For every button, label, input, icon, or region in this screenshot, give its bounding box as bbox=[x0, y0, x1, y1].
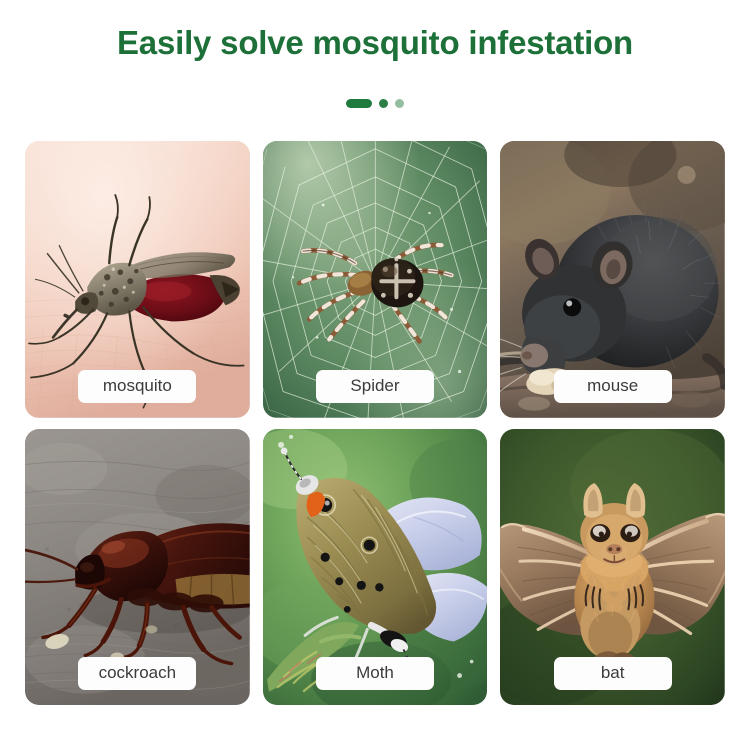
pest-card-bat[interactable]: bat bbox=[500, 429, 725, 706]
card-label-mosquito: mosquito bbox=[78, 370, 196, 403]
card-label-bat: bat bbox=[554, 657, 672, 690]
carousel-pagination[interactable] bbox=[0, 99, 750, 108]
page-title: Easily solve mosquito infestation bbox=[0, 22, 750, 63]
pager-dot-1[interactable] bbox=[346, 99, 372, 108]
pest-card-spider[interactable]: Spider bbox=[263, 141, 488, 418]
pager-dot-2[interactable] bbox=[379, 99, 388, 108]
pest-card-cockroach[interactable]: cockroach bbox=[25, 429, 250, 706]
card-label-cockroach: cockroach bbox=[78, 657, 196, 690]
pest-gallery-page: Easily solve mosquito infestation bbox=[0, 0, 750, 750]
pest-card-mosquito[interactable]: mosquito bbox=[25, 141, 250, 418]
pest-card-moth[interactable]: Moth bbox=[263, 429, 488, 706]
card-label-spider: Spider bbox=[316, 370, 434, 403]
pest-card-grid: mosquito bbox=[25, 141, 725, 705]
pest-card-mouse[interactable]: mouse bbox=[500, 141, 725, 418]
card-label-mouse: mouse bbox=[554, 370, 672, 403]
card-label-moth: Moth bbox=[316, 657, 434, 690]
pager-dot-3[interactable] bbox=[395, 99, 404, 108]
